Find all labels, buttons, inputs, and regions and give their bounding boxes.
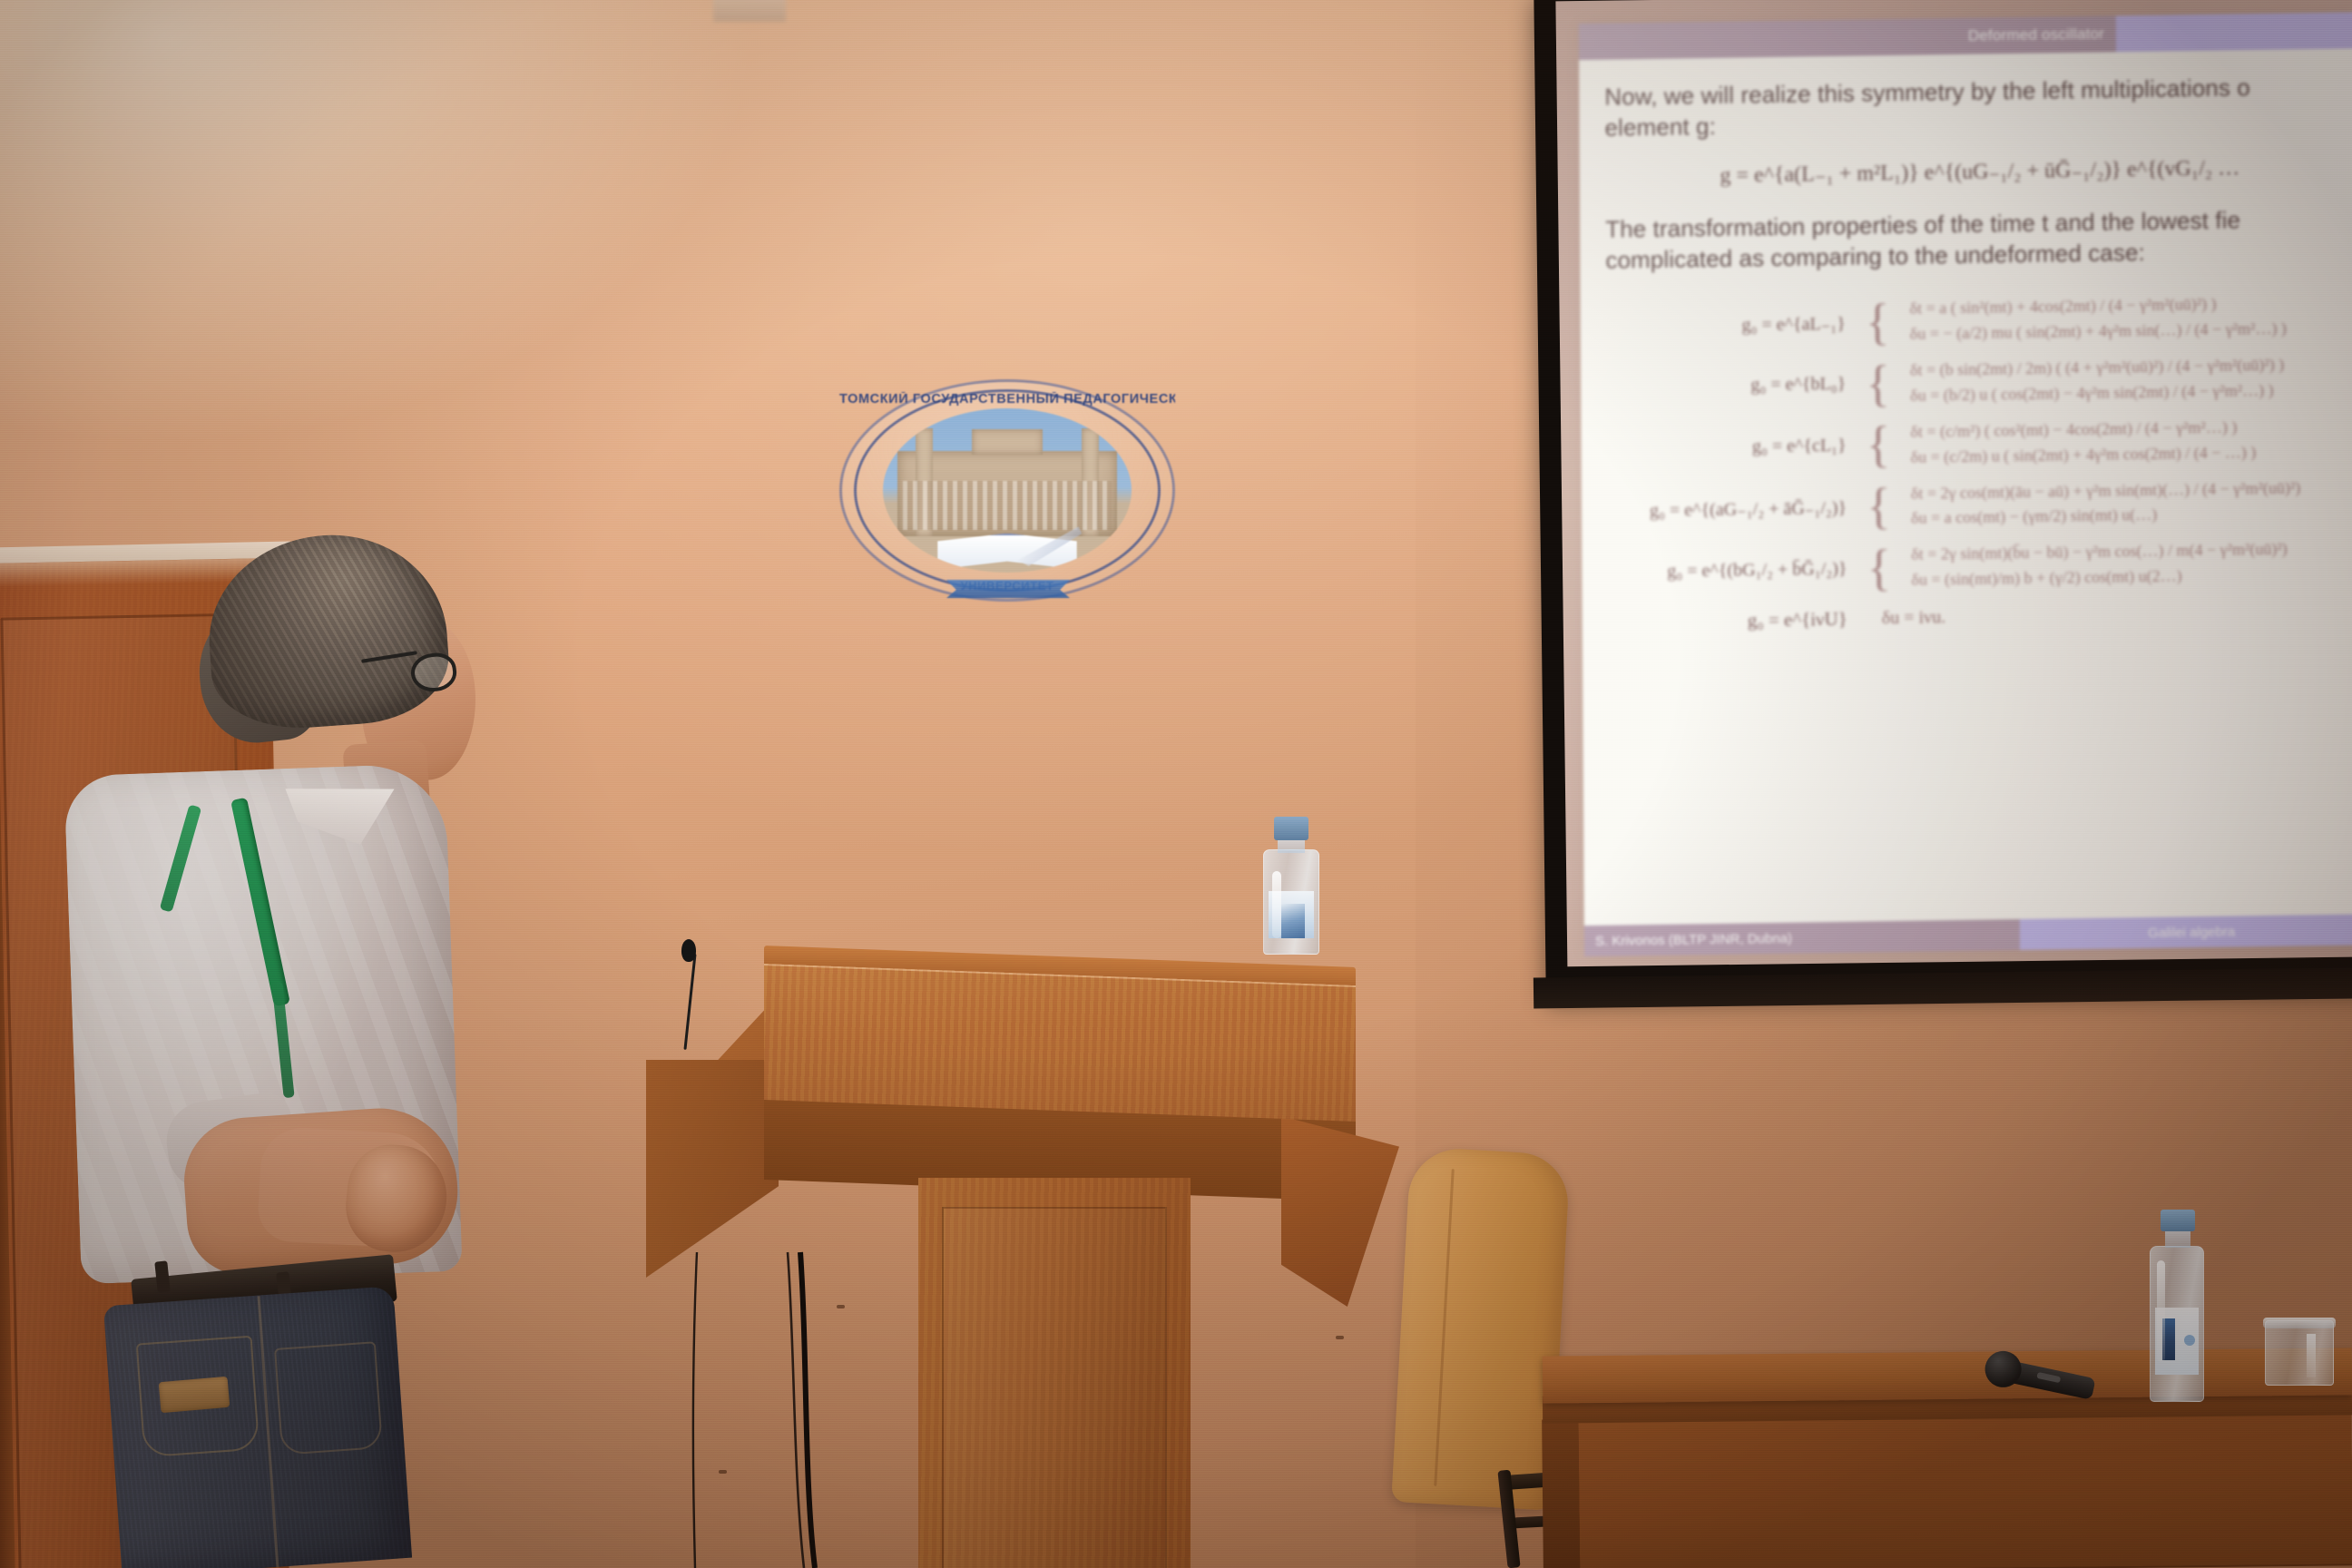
equation-lhs: g₀ = e^{bL₀} (1619, 374, 1846, 398)
equation-brace: { (1867, 554, 1891, 583)
equation-rhs: δt = (b sin(2mt) / 2m) ( (4 + γ²m²(uū)²)… (1910, 353, 2284, 409)
bottle-neck (1278, 838, 1305, 853)
slide-title: Deformed oscillator (1968, 25, 2104, 45)
cable-thin (693, 1252, 697, 1568)
equation-row: g₀ = e^{(bG₁/₂ + b̄Ḡ₁/₂)} { δt = 2γ sin(… (1620, 536, 2352, 598)
microphone-capsule-icon (681, 939, 696, 962)
emblem-text-top: ТОМСКИЙ ГОСУДАРСТВЕННЫЙ ПЕДАГОГИЧЕСКИЙ (839, 392, 1175, 407)
lecture-hall-photo: ТОМСКИЙ ГОСУДАРСТВЕННЫЙ ПЕДАГОГИЧЕСКИЙ У… (0, 0, 2352, 1568)
equation-line: δu = − (a/2) mu ( sin(2mt) + 4γ²m sin(…)… (1910, 317, 2287, 348)
bottle-label-artwork (1281, 904, 1305, 938)
bottle-cap (2161, 1210, 2195, 1231)
equation-lhs: g₀ = e^{cL₁} (1620, 436, 1847, 460)
presenter (73, 535, 635, 1568)
bottle-neck (2165, 1230, 2190, 1248)
slide-equation-block: g₀ = e^{aL₋₁} { δt = a ( sin²(mt) + 4cos… (1606, 290, 2352, 637)
equation-lhs: g₀ = e^{aL₋₁} (1619, 311, 1846, 338)
bottle-highlight (1272, 871, 1281, 938)
equation-line: δu = (c/2m) u ( sin(2mt) + 4γ²m cos(2mt)… (1911, 440, 2257, 471)
equation-line: δu = (b/2) u ( cos(2mt) − 4γ²m sin(2mt) … (1910, 378, 2284, 409)
equation-row: g₀ = e^{bL₀} { δt = (b sin(2mt) / 2m) ( … (1619, 351, 2352, 413)
equation-rhs: δt = a ( sin²(mt) + 4cos(2mt) / (4 − γ²m… (1910, 291, 2287, 348)
drinking-glass-rim (2263, 1318, 2336, 1328)
equation-rhs: δt = 2γ sin(mt)(b̄u − bū) − γ²m cos(…) /… (1911, 537, 2288, 593)
equation-row: g₀ = e^{iνU} δu = iνu. (1621, 598, 2352, 637)
equation-lhs: g₀ = e^{(aG₋₁/₂ + āḠ₋₁/₂)} (1620, 496, 1847, 523)
drinking-glass[interactable] (2265, 1320, 2334, 1386)
jeans-back-pocket-right (274, 1341, 383, 1455)
equation-rhs: δu = iνu. (1882, 603, 1945, 632)
equation-lhs: g₀ = e^{(bG₁/₂ + b̄Ḡ₁/₂)} (1620, 559, 1847, 583)
equation-line: δu = a cos(mt) − (γm/2) sin(mt) u(…) (1911, 501, 2301, 532)
emblem-ribbon (946, 580, 1070, 598)
equation-row: g₀ = e^{cL₁} { δt = (c/m²) ( cos²(mt) − … (1620, 413, 2352, 475)
lectern-left-side (646, 1060, 779, 1278)
projection-surface: Deformed oscillator Now, we will realize… (1555, 0, 2352, 966)
equation-rhs: δt = 2γ cos(mt)(āu − aū) + γ²m sin(mt)(…… (1911, 475, 2301, 532)
equation-row: g₀ = e^{aL₋₁} { δt = a ( sin²(mt) + 4cos… (1619, 290, 2352, 352)
cable-bundle (626, 1252, 935, 1568)
presidium-table-top (1543, 1347, 2352, 1403)
screw-icon (1336, 1336, 1344, 1339)
ceiling-fixture (713, 0, 786, 22)
equation-line: δu = iνu. (1882, 603, 1945, 632)
slide-footer-author: S. Krivonos (BLTP JINR, Dubna) (1584, 919, 2021, 956)
slide-main-equation: g = e^{a(L₋₁ + m²L₁)} e^{(uG₋₁/₂ + ūḠ₋₁/… (1605, 152, 2352, 190)
water-bottle-on-lectern[interactable] (1258, 817, 1325, 955)
lectern-right-wing (1281, 1116, 1399, 1307)
slide-body: Now, we will realize this symmetry by th… (1579, 48, 2352, 637)
bottle-cap (1274, 817, 1308, 840)
gooseneck-microphone[interactable] (676, 939, 712, 1048)
equation-brace: { (1866, 309, 1890, 337)
lectern-front-face (764, 964, 1356, 1122)
bottle-label-logo-icon (2184, 1335, 2195, 1346)
hair-strand-texture (202, 527, 453, 734)
equation-row: g₀ = e^{(aG₋₁/₂ + āḠ₋₁/₂)} { δt = 2γ cos… (1620, 475, 2352, 536)
microphone-stem (683, 954, 696, 1050)
slide-footer: S. Krivonos (BLTP JINR, Dubna) Galilei a… (1584, 914, 2352, 956)
jeans-brand-patch (159, 1377, 230, 1413)
emblem-disc (883, 408, 1132, 573)
slide-title-accent-block (2116, 12, 2352, 52)
emblem-windows (903, 481, 1112, 530)
water-bottle-on-table[interactable] (2146, 1210, 2210, 1402)
lectern-column-inset (942, 1207, 1167, 1568)
equation-line: δu = (sin(mt)/m) b + (γ/2) cos(mt) u(2…) (1911, 563, 2288, 593)
equation-rhs: δt = (c/m²) ( cos²(mt) − 4cos(2mt) / (4 … (1910, 415, 2256, 470)
cable-thick (800, 1252, 815, 1568)
drinking-glass-highlight (2307, 1334, 2316, 1377)
presentation-slide: Deformed oscillator Now, we will realize… (1579, 12, 2352, 956)
equation-brace: { (1866, 370, 1890, 398)
wood-grain-texture (764, 964, 1356, 1122)
slide-footer-topic: Galilei algebra (2020, 914, 2352, 950)
equation-brace: { (1867, 431, 1891, 459)
emblem-open-book-icon (937, 534, 1076, 570)
projection-screen: Deformed oscillator Now, we will realize… (1534, 0, 2352, 998)
bottle-highlight (2157, 1260, 2165, 1362)
equation-brace: { (1867, 493, 1891, 521)
equation-lhs: g₀ = e^{iνU} (1621, 608, 1847, 634)
university-emblem: ТОМСКИЙ ГОСУДАРСТВЕННЫЙ ПЕДАГОГИЧЕСКИЙ У… (839, 379, 1175, 602)
